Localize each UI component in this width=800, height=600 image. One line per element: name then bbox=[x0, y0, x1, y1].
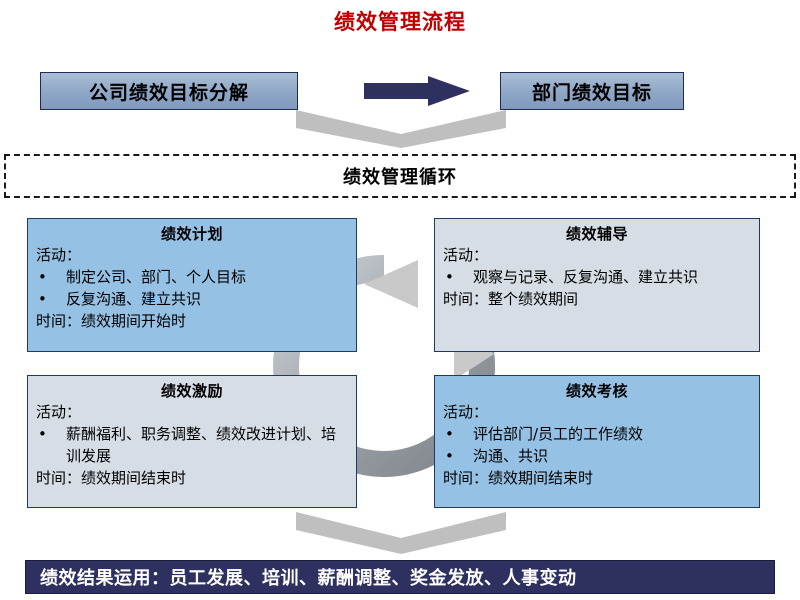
card-performance-plan[interactable]: 绩效计划 活动： 制定公司、部门、个人目标 反复沟通、建立共识 时间：绩效期间开… bbox=[27, 218, 357, 352]
down-chevron-icon bbox=[296, 510, 506, 554]
company-goal-box[interactable]: 公司绩效目标分解 bbox=[40, 72, 298, 110]
card-performance-coaching[interactable]: 绩效辅导 活动： 观察与记录、反复沟通、建立共识 时间：整个绩效期间 bbox=[434, 218, 760, 352]
cycle-band-label: 绩效管理循环 bbox=[343, 163, 457, 189]
card-body: 活动： 制定公司、部门、个人目标 反复沟通、建立共识 时间：绩效期间开始时 bbox=[36, 244, 348, 332]
dept-goal-label: 部门绩效目标 bbox=[532, 78, 652, 105]
result-usage-bar[interactable]: 绩效结果运用：员工发展、培训、薪酬调整、奖金发放、人事变动 bbox=[25, 560, 775, 594]
bullet-item: 评估部门/员工的工作绩效 bbox=[443, 423, 751, 445]
card-title: 绩效考核 bbox=[443, 381, 751, 401]
bullet-item: 沟通、共识 bbox=[443, 445, 751, 467]
card-title: 绩效激励 bbox=[36, 381, 348, 401]
time-label: 时间：绩效期间结束时 bbox=[443, 467, 751, 489]
bullet-list: 薪酬福利、职务调整、绩效改进计划、培训发展 bbox=[36, 423, 348, 467]
card-title: 绩效辅导 bbox=[443, 224, 751, 244]
activity-label: 活动： bbox=[36, 401, 348, 423]
activity-label: 活动： bbox=[443, 401, 751, 423]
bullet-item: 薪酬福利、职务调整、绩效改进计划、培训发展 bbox=[36, 423, 348, 467]
bullet-list: 制定公司、部门、个人目标 反复沟通、建立共识 bbox=[36, 266, 348, 310]
down-chevron-icon bbox=[296, 108, 506, 148]
bullet-list: 观察与记录、反复沟通、建立共识 bbox=[443, 266, 751, 288]
dept-goal-box[interactable]: 部门绩效目标 bbox=[500, 72, 684, 110]
activity-label: 活动： bbox=[443, 244, 751, 266]
card-performance-incentive[interactable]: 绩效激励 活动： 薪酬福利、职务调整、绩效改进计划、培训发展 时间：绩效期间结束… bbox=[27, 375, 357, 508]
time-label: 时间：绩效期间结束时 bbox=[36, 467, 348, 489]
bullet-item: 观察与记录、反复沟通、建立共识 bbox=[443, 266, 751, 288]
activity-label: 活动： bbox=[36, 244, 348, 266]
bullet-item: 制定公司、部门、个人目标 bbox=[36, 266, 348, 288]
result-usage-label: 绩效结果运用：员工发展、培训、薪酬调整、奖金发放、人事变动 bbox=[40, 564, 577, 590]
card-body: 活动： 薪酬福利、职务调整、绩效改进计划、培训发展 时间：绩效期间结束时 bbox=[36, 401, 348, 489]
time-label: 时间：整个绩效期间 bbox=[443, 288, 751, 310]
page-title: 绩效管理流程 bbox=[0, 6, 800, 36]
card-body: 活动： 评估部门/员工的工作绩效 沟通、共识 时间：绩效期间结束时 bbox=[443, 401, 751, 489]
card-body: 活动： 观察与记录、反复沟通、建立共识 时间：整个绩效期间 bbox=[443, 244, 751, 310]
right-arrow-icon bbox=[362, 74, 472, 108]
bullet-list: 评估部门/员工的工作绩效 沟通、共识 bbox=[443, 423, 751, 467]
cycle-band: 绩效管理循环 bbox=[4, 154, 796, 198]
bullet-item: 反复沟通、建立共识 bbox=[36, 288, 348, 310]
time-label: 时间：绩效期间开始时 bbox=[36, 310, 348, 332]
slide-canvas: 绩效管理流程 公司绩效目标分解 部门绩效目标 绩效管理循环 绩效计划 活动： bbox=[0, 0, 800, 600]
card-performance-appraisal[interactable]: 绩效考核 活动： 评估部门/员工的工作绩效 沟通、共识 时间：绩效期间结束时 bbox=[434, 375, 760, 508]
card-title: 绩效计划 bbox=[36, 224, 348, 244]
company-goal-label: 公司绩效目标分解 bbox=[89, 78, 249, 105]
